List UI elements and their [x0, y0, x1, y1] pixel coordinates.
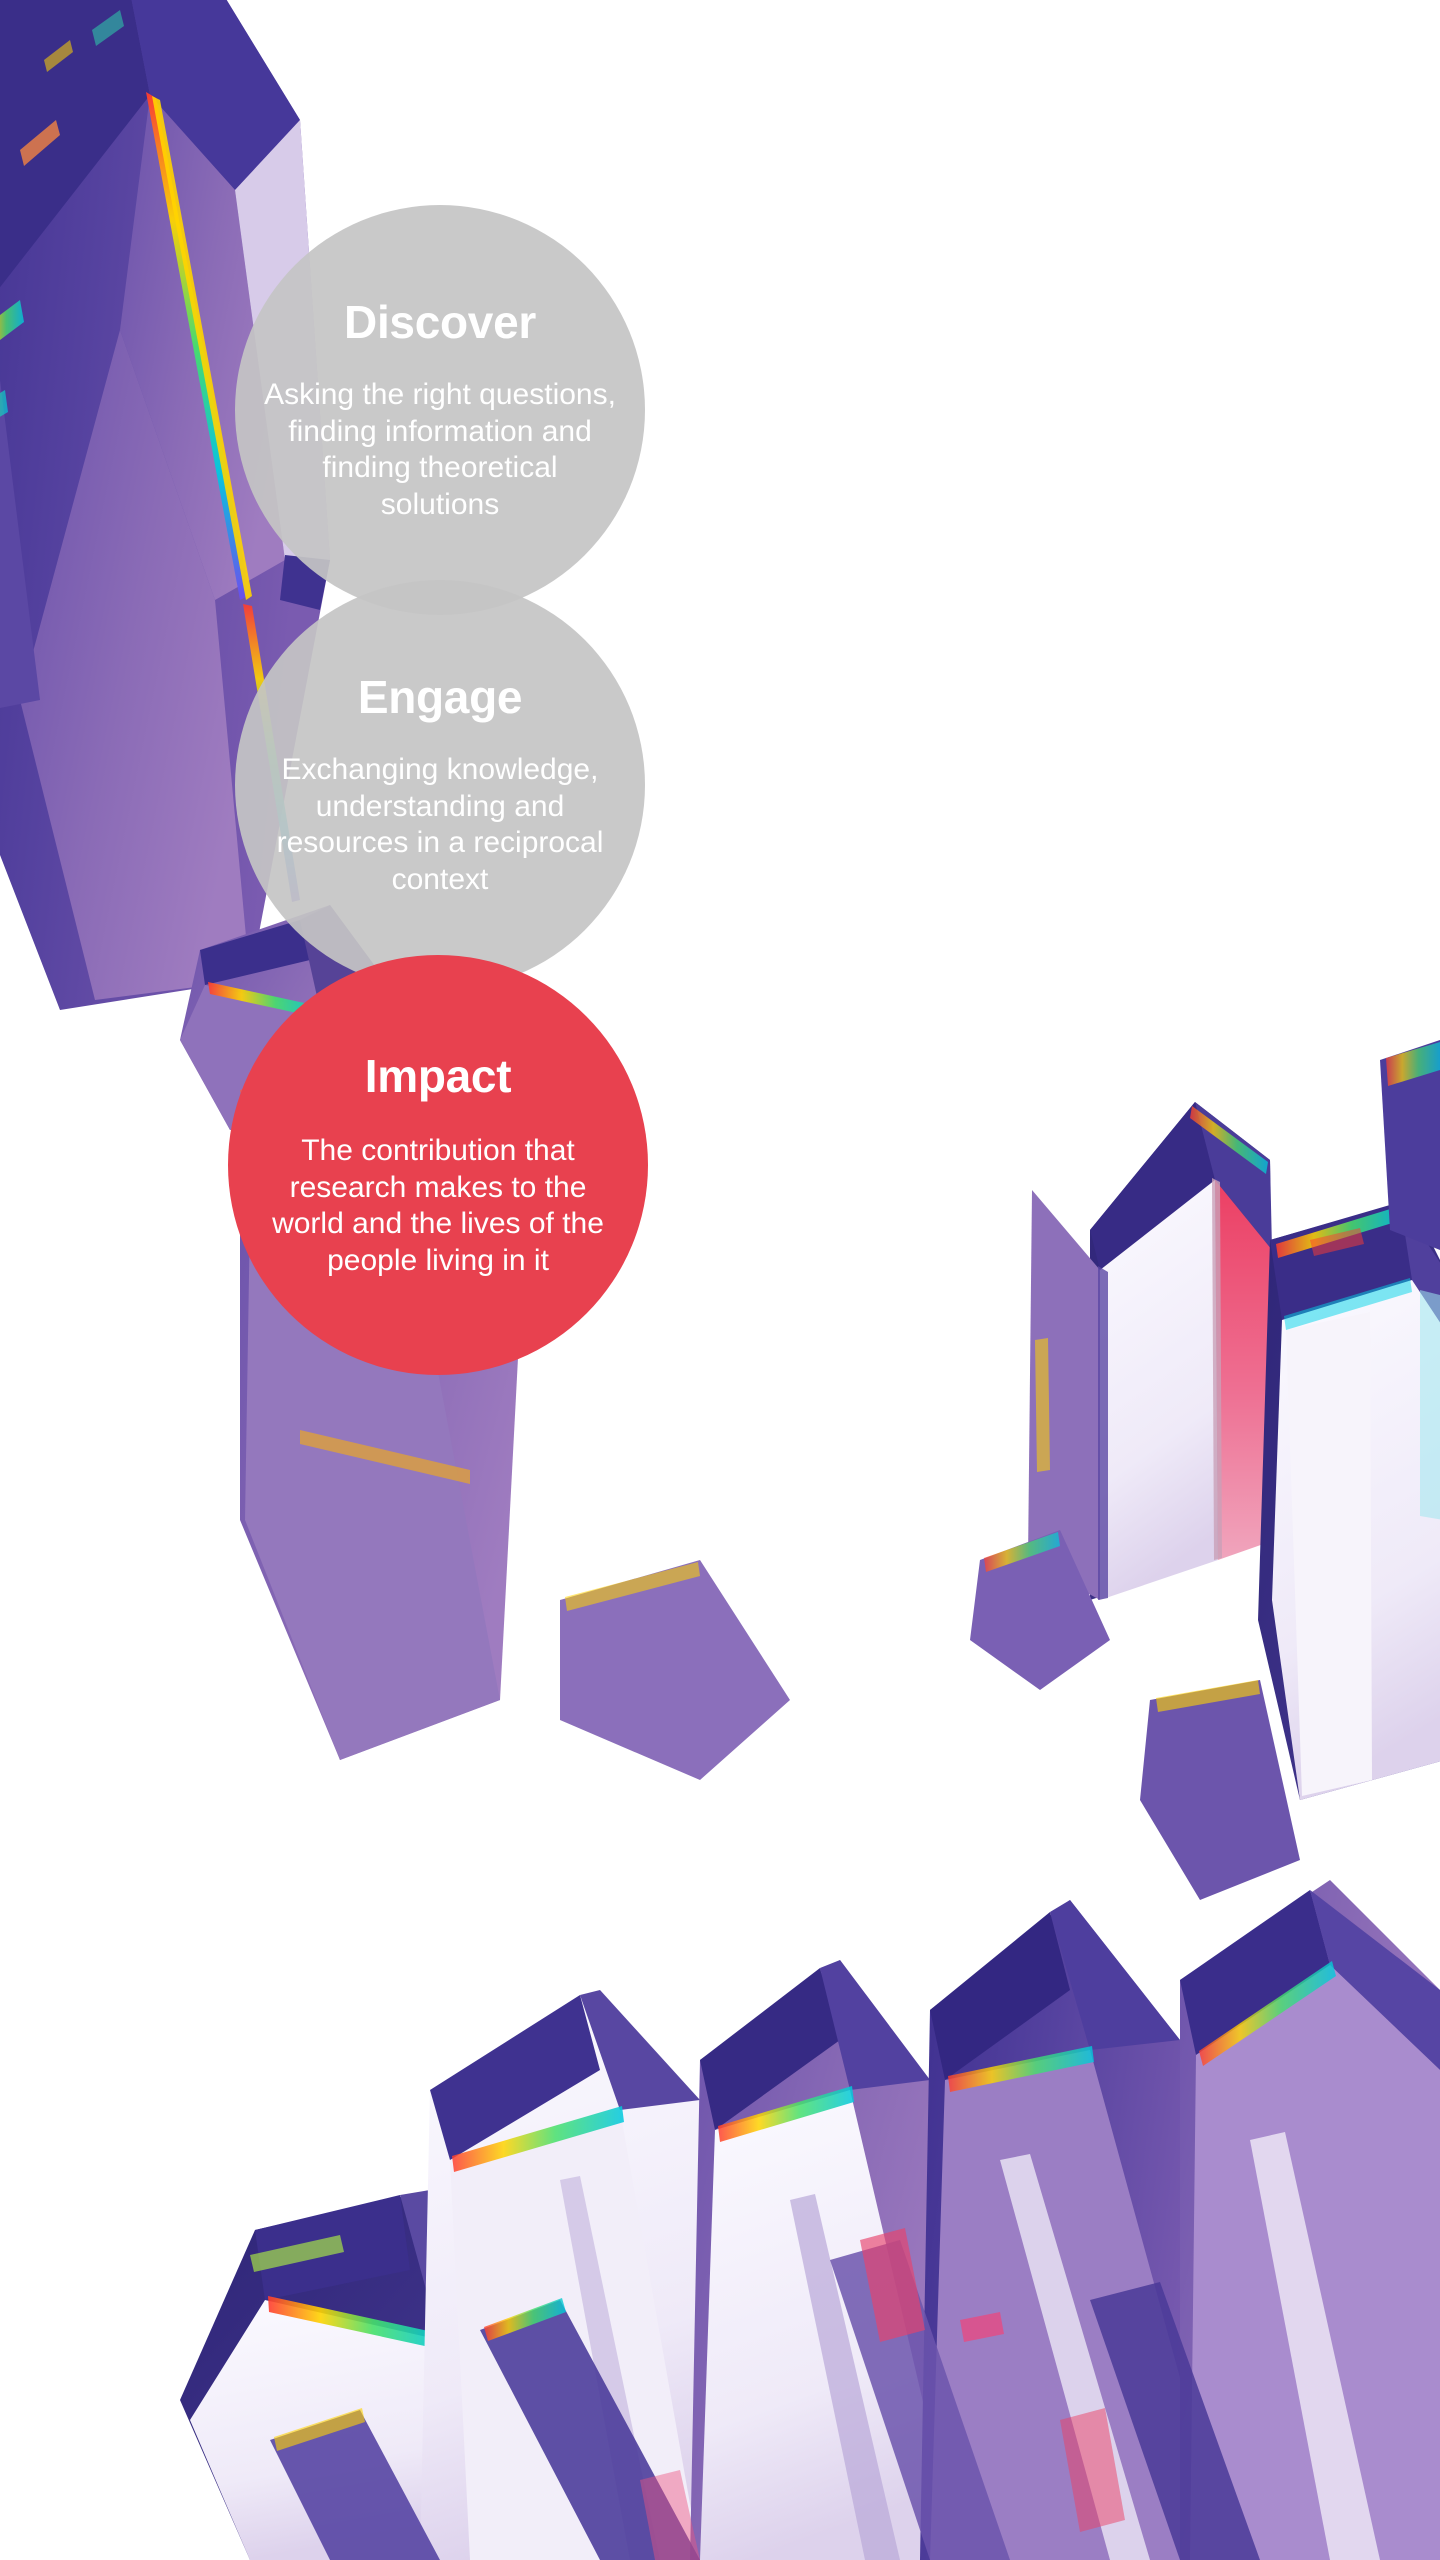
- crystal-mid-right-small: [560, 1530, 1110, 1780]
- circle-impact[interactable]: Impact The contribution that research ma…: [228, 955, 648, 1375]
- infographic-canvas: Discover Asking the right questions, fin…: [0, 0, 1440, 2560]
- crystal-right-edge: [1140, 1040, 1440, 1900]
- circle-engage-body: Exchanging knowledge, understanding and …: [255, 752, 625, 898]
- crystal-background-image: [0, 0, 1440, 2560]
- crystal-right-tall-prism: [1028, 1102, 1275, 1600]
- crystal-right-gem: [1258, 1200, 1440, 1800]
- circle-discover-body: Asking the right questions, finding info…: [261, 377, 619, 523]
- crystal-bottom-left-point: [180, 2190, 520, 2560]
- circle-discover[interactable]: Discover Asking the right questions, fin…: [235, 205, 645, 615]
- circle-discover-title: Discover: [344, 297, 536, 348]
- circle-impact-title: Impact: [365, 1051, 511, 1102]
- crystal-bottom-field: [270, 1880, 1440, 2560]
- circle-engage-title: Engage: [358, 672, 522, 723]
- circle-engage[interactable]: Engage Exchanging knowledge, understandi…: [235, 580, 645, 990]
- circle-impact-body: The contribution that research makes to …: [254, 1133, 622, 1279]
